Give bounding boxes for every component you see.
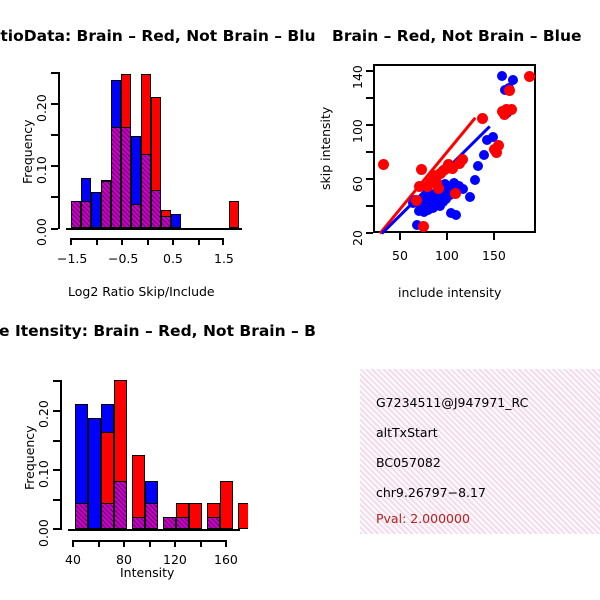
panel1-title: RatioData: Brain – Red, Not Brain – Blu — [0, 27, 316, 45]
panel3-y-tick-label: 0.20 — [36, 400, 51, 428]
bar-brain — [189, 503, 202, 529]
scatter-point-brain — [378, 159, 389, 170]
panel3-y-tick — [53, 410, 60, 412]
panel3-x-tick — [123, 540, 125, 547]
bar-brain — [238, 503, 248, 529]
panel3-y-tick-label: 0.10 — [36, 460, 51, 488]
bar-overlap — [101, 503, 114, 529]
panel1-x-tick — [121, 238, 123, 245]
panel2-x-tick — [493, 233, 495, 240]
scatter-point-brain — [433, 183, 444, 194]
bar-overlap — [132, 517, 145, 529]
panel2-y-tick-label: 140 — [350, 65, 365, 89]
scatter-point-brain — [524, 71, 535, 82]
panel3-x-tick-label: 160 — [214, 552, 238, 567]
panel3-y-tick-label: 0.00 — [36, 519, 51, 547]
panel3-x-tick — [98, 540, 100, 547]
panel2-y-tick — [366, 97, 373, 99]
panel3-y-axis-line — [60, 380, 62, 530]
panel1-x-tick — [96, 238, 98, 245]
info-line-accession: BC057082 — [376, 455, 441, 470]
bar-overlap — [81, 201, 91, 228]
panel1-y-tick — [51, 196, 58, 198]
panel1-y-tick — [51, 228, 58, 230]
info-line-pval: Pval: 2.000000 — [376, 511, 470, 526]
bar-overlap — [75, 503, 88, 529]
bar-overlap — [141, 154, 151, 228]
bar-overlap — [121, 127, 131, 228]
panel3-x-tick-label: 120 — [163, 552, 187, 567]
panel3-x-axis-label: Intensity — [120, 565, 174, 580]
panel1-y-tick-label: 0.00 — [34, 218, 49, 246]
bar-not-brain — [91, 192, 101, 228]
panel1-x-axis-label: Log2 Ratio Skip/Include — [68, 284, 215, 299]
scatter-point-brain — [416, 164, 427, 175]
bar-brain — [220, 481, 233, 529]
panel1-y-tick-label: 0.10 — [34, 156, 49, 184]
bar-not-brain — [88, 418, 101, 529]
panel3-x-tick — [72, 540, 74, 547]
scatter-point-not-brain — [508, 75, 518, 85]
panel2-y-tick — [366, 178, 373, 180]
panel3-x-tick — [200, 540, 202, 547]
panel1-plot-area — [66, 68, 246, 230]
panel2-y-axis-label: skip intensity — [318, 107, 333, 190]
bar-overlap — [114, 481, 127, 529]
panel1-y-tick — [51, 134, 58, 136]
panel1-x-tick — [222, 238, 224, 245]
scatter-point-brain — [411, 195, 422, 206]
panel1-y-tick — [51, 72, 58, 74]
panel1-x-tick — [70, 238, 72, 245]
panel3-x-tick-label: 80 — [116, 552, 132, 567]
panel2-title: Brain – Red, Not Brain – Blue — [332, 27, 582, 45]
panel3-x-tick — [225, 540, 227, 547]
scatter-point-not-brain — [479, 150, 489, 160]
panel2-y-tick — [366, 205, 373, 207]
panel1-x-tick-label: −1.5 — [57, 251, 87, 266]
scatter-point-not-brain — [465, 192, 475, 202]
panel1-y-axis-line — [58, 72, 60, 229]
panel3-x-tick — [149, 540, 151, 547]
scatter-point-not-brain — [451, 210, 461, 220]
bar-overlap — [101, 181, 111, 228]
panel2-y-tick-label: 20 — [350, 230, 365, 246]
bar-not-brain — [171, 214, 181, 228]
scatter-point-brain — [477, 113, 488, 124]
info-line-event-type: altTxStart — [376, 425, 438, 440]
panel3-x-tick — [174, 540, 176, 547]
panel2-x-tick-label: 150 — [482, 248, 506, 263]
panel3-y-tick — [53, 380, 60, 382]
panel2-y-tick — [366, 232, 373, 234]
panel1-x-tick-label: −0.5 — [108, 251, 138, 266]
panel2-y-tick — [366, 151, 373, 153]
scatter-point-brain — [450, 188, 461, 199]
panel3-y-tick — [53, 469, 60, 471]
panel3-y-axis-label: Frequency — [22, 425, 37, 490]
panel1-y-tick-label: 0.20 — [34, 94, 49, 122]
bar-overlap — [111, 127, 121, 228]
scatter-point-brain — [457, 154, 468, 165]
bar-overlap — [151, 190, 161, 228]
panel1-y-tick — [51, 103, 58, 105]
bar-overlap — [131, 204, 141, 228]
bar-overlap — [176, 517, 189, 529]
scatter-point-brain — [493, 140, 504, 151]
panel1-y-tick — [51, 165, 58, 167]
panel1-x-tick — [198, 238, 200, 245]
panel3-x-tick-label: 40 — [65, 552, 81, 567]
panel1-x-tick — [172, 238, 174, 245]
panel3-y-tick — [53, 499, 60, 501]
bar-brain — [229, 201, 239, 228]
panel2-y-tick — [366, 124, 373, 126]
panel3-y-tick — [53, 440, 60, 442]
scatter-point-not-brain — [473, 161, 483, 171]
bar-overlap — [161, 216, 171, 228]
panel2-x-axis-label: include intensity — [398, 285, 501, 300]
bar-overlap — [207, 517, 220, 529]
info-line-gene-id: G7234511@J947971_RC — [376, 395, 528, 410]
bar-overlap — [145, 503, 158, 529]
panel3-plot-area — [68, 368, 248, 536]
scatter-point-brain — [418, 221, 429, 232]
panel2-x-tick — [399, 233, 401, 240]
bar-overlap — [163, 517, 176, 529]
panel1-y-axis-label: Frequency — [20, 119, 35, 184]
panel2-y-tick — [366, 70, 373, 72]
scatter-point-brain — [504, 85, 515, 96]
scatter-point-not-brain — [497, 71, 507, 81]
panel2-y-tick-label: 60 — [350, 176, 365, 192]
panel3-y-tick — [53, 528, 60, 530]
panel1-x-tick-label: 1.5 — [214, 251, 234, 266]
panel1-x-tick — [147, 238, 149, 245]
panel2-plot-frame — [373, 64, 536, 233]
panel2-x-tick-label: 50 — [392, 248, 408, 263]
panel1-x-tick-label: 0.5 — [163, 251, 183, 266]
info-line-locus: chr9.26797−8.17 — [376, 485, 486, 500]
panel2-y-tick-label: 100 — [350, 119, 365, 143]
annotation-info-box: G7234511@J947971_RC altTxStart BC057082 … — [360, 369, 600, 534]
panel3-title: ne Itensity: Brain – Red, Not Brain – B — [0, 322, 316, 340]
bar-overlap — [71, 201, 81, 228]
scatter-point-brain — [506, 104, 517, 115]
panel2-x-tick — [446, 233, 448, 240]
panel2-x-tick-label: 100 — [435, 248, 459, 263]
scatter-point-not-brain — [470, 175, 480, 185]
